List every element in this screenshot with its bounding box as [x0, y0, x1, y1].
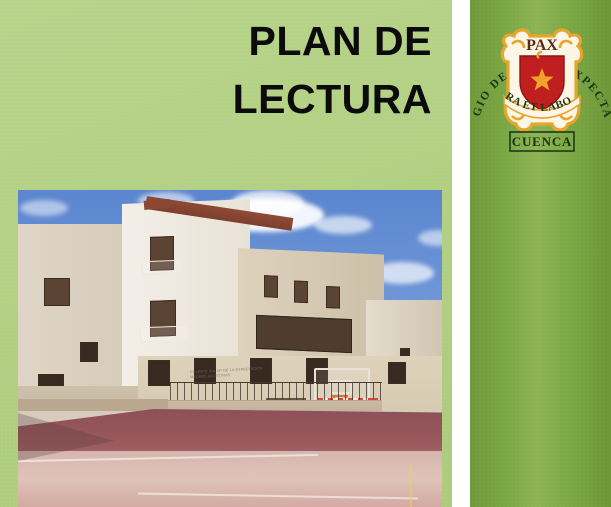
panel-divider — [452, 0, 470, 507]
school-photo: COLEGIO Sta. Mª DE LA EXPECTACION MADRES… — [18, 190, 442, 507]
window — [80, 342, 98, 362]
page-title: PLAN DE LECTURA — [60, 12, 432, 128]
window — [44, 278, 70, 306]
title-line-1: PLAN DE — [60, 12, 432, 70]
glass-balcony — [256, 315, 352, 353]
court-line — [410, 463, 412, 507]
roof-tiles — [144, 199, 171, 210]
cloud — [20, 200, 68, 216]
balcony-rail — [140, 325, 188, 343]
balcony-rail — [142, 260, 182, 276]
window — [326, 286, 340, 309]
crest-city-text: CUENCA — [512, 134, 572, 149]
title-line-2: LECTURA — [60, 70, 432, 128]
crest-pax-text: PAX — [526, 37, 558, 54]
window — [294, 281, 308, 304]
slide-canvas: PLAN DE LECTURA — [0, 0, 611, 507]
window — [148, 360, 170, 386]
window — [264, 275, 278, 298]
cloud — [314, 216, 372, 234]
window — [388, 362, 406, 384]
school-crest: COLEGIO DE STA.Mª EXPECTACION PAX — [472, 4, 611, 162]
